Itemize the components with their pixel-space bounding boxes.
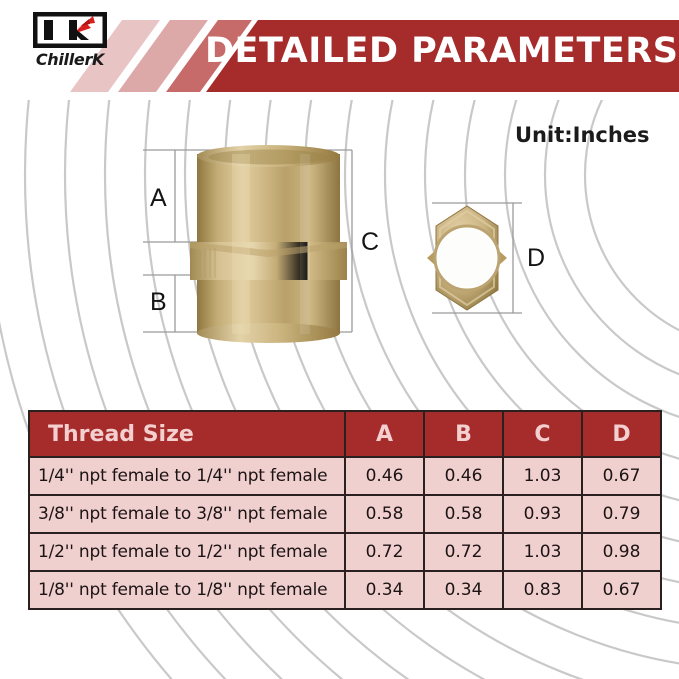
table-row: 3/8'' npt female to 3/8'' npt female 0.5… — [29, 495, 661, 533]
column-header-a: A — [345, 411, 424, 457]
brass-hex-nut-end-view — [427, 206, 507, 310]
column-header-thread-size: Thread Size — [29, 411, 345, 457]
cell-b: 0.46 — [424, 457, 503, 495]
page-header: ChillerK DETAILED PARAMETERS — [0, 0, 679, 100]
brass-coupling-side-view — [190, 145, 347, 343]
cell-d: 0.67 — [582, 571, 661, 609]
cell-b: 0.58 — [424, 495, 503, 533]
column-header-c: C — [503, 411, 582, 457]
table-header-row: Thread Size A B C D — [29, 411, 661, 457]
cell-c: 1.03 — [503, 533, 582, 571]
dimension-label-c: C — [361, 228, 379, 257]
cell-c: 0.83 — [503, 571, 582, 609]
brand-wordmark: ChillerK — [27, 50, 113, 69]
unit-label: Unit:Inches — [515, 123, 650, 147]
cell-a: 0.58 — [345, 495, 424, 533]
table-row: 1/8'' npt female to 1/8'' npt female 0.3… — [29, 571, 661, 609]
cell-d: 0.98 — [582, 533, 661, 571]
chillerk-logo-mark-icon — [33, 12, 107, 48]
product-diagram: A B C D — [0, 110, 679, 390]
product-diagram-graphic — [0, 110, 679, 390]
cell-thread-size: 1/2'' npt female to 1/2'' npt female — [29, 533, 345, 571]
table-row: 1/2'' npt female to 1/2'' npt female 0.7… — [29, 533, 661, 571]
cell-c: 0.93 — [503, 495, 582, 533]
cell-d: 0.79 — [582, 495, 661, 533]
cell-a: 0.72 — [345, 533, 424, 571]
cell-c: 1.03 — [503, 457, 582, 495]
cell-thread-size: 1/4'' npt female to 1/4'' npt female — [29, 457, 345, 495]
column-header-b: B — [424, 411, 503, 457]
cell-thread-size: 3/8'' npt female to 3/8'' npt female — [29, 495, 345, 533]
table-row: 1/4'' npt female to 1/4'' npt female 0.4… — [29, 457, 661, 495]
cell-d: 0.67 — [582, 457, 661, 495]
product-spec-page: ChillerK DETAILED PARAMETERS Unit:Inches — [0, 0, 679, 679]
cell-thread-size: 1/8'' npt female to 1/8'' npt female — [29, 571, 345, 609]
brand-logo: ChillerK — [27, 12, 113, 80]
dimension-label-d: D — [527, 244, 545, 273]
page-title: DETAILED PARAMETERS — [205, 29, 675, 73]
cell-a: 0.46 — [345, 457, 424, 495]
cell-a: 0.34 — [345, 571, 424, 609]
cell-b: 0.34 — [424, 571, 503, 609]
cell-b: 0.72 — [424, 533, 503, 571]
dimension-label-b: B — [150, 288, 167, 317]
dimension-label-a: A — [150, 184, 167, 213]
detailed-parameters-table: Thread Size A B C D 1/4'' npt female to … — [28, 410, 662, 610]
column-header-d: D — [582, 411, 661, 457]
